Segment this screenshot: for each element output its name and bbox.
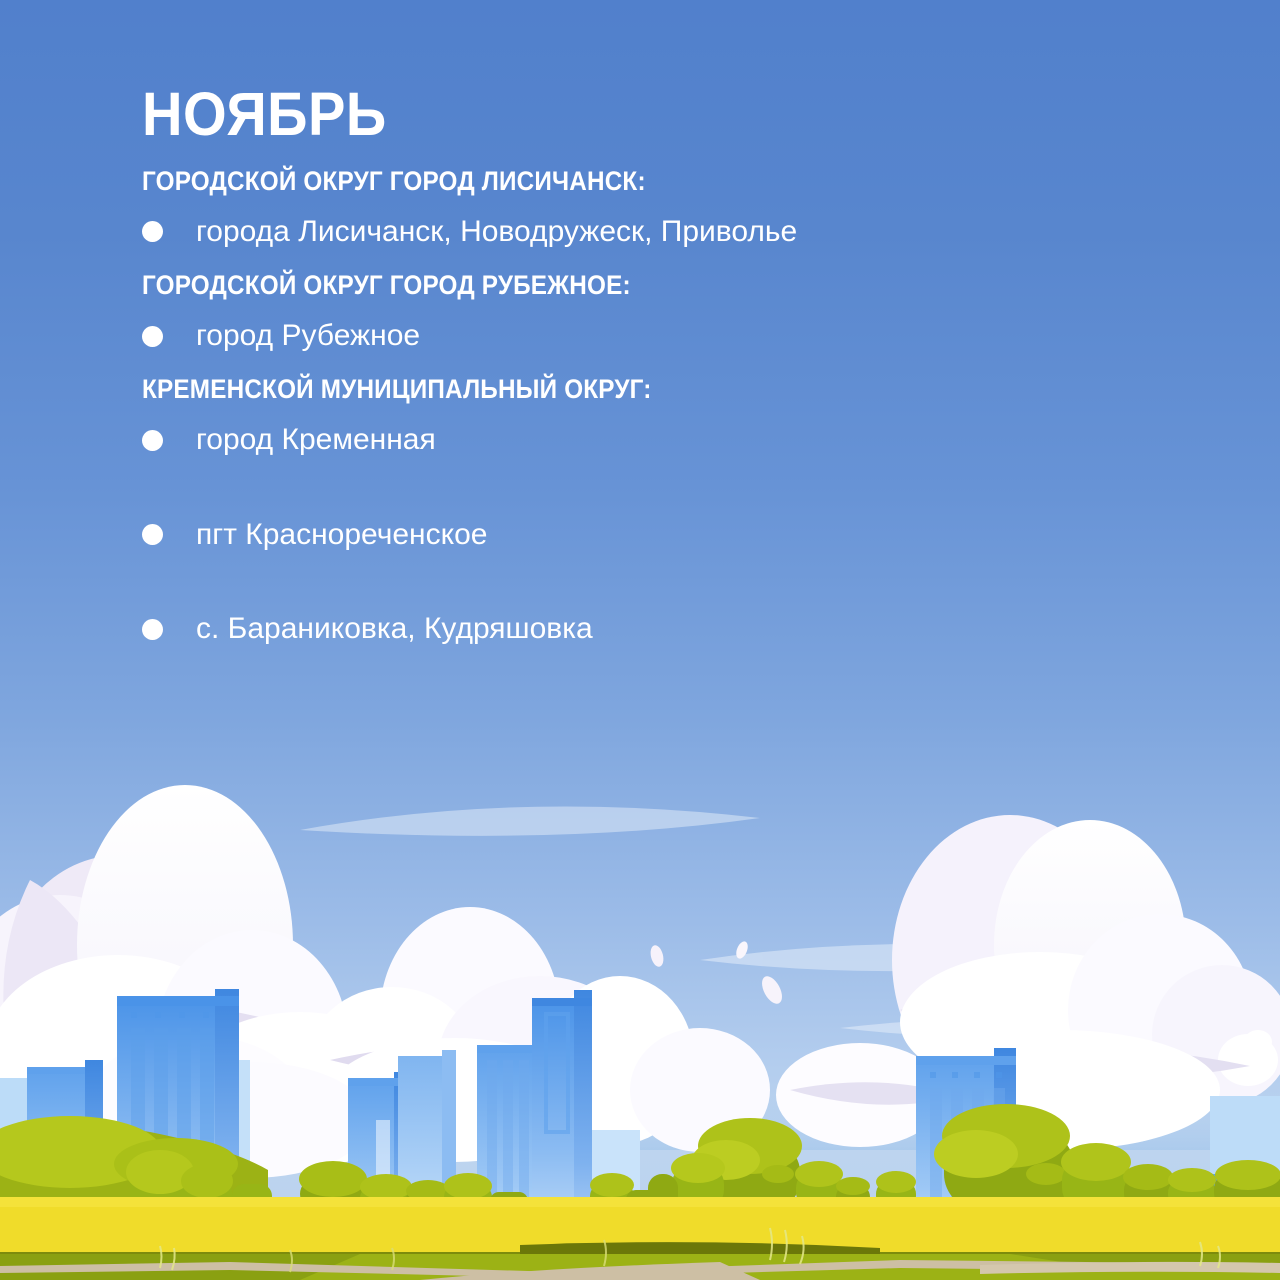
list-item: города Лисичанск, Новодружеск, Приволье: [142, 215, 1102, 250]
list-item: город Кременная: [142, 423, 1102, 458]
poster-text-block: НОЯБРЬ ГОРОДСКОЙ ОКРУГ ГОРОД ЛИСИЧАНСК: …: [142, 84, 1102, 669]
floating-petals: [649, 940, 787, 1007]
district-group-rubezhnoe: ГОРОДСКОЙ ОКРУГ ГОРОД РУБЕЖНОЕ: город Ру…: [142, 271, 1102, 353]
ground-layers: [0, 1197, 1280, 1280]
district-heading-lisichansk: ГОРОДСКОЙ ОКРУГ ГОРОД ЛИСИЧАНСК:: [142, 167, 1006, 197]
district-heading-rubezhnoe: ГОРОДСКОЙ ОКРУГ ГОРОД РУБЕЖНОЕ:: [142, 271, 1006, 301]
cityscape-illustration: [0, 760, 1280, 1280]
list-item-label: пгт Краснореченское: [196, 518, 487, 553]
district-group-lisichansk: ГОРОДСКОЙ ОКРУГ ГОРОД ЛИСИЧАНСК: города …: [142, 167, 1102, 249]
list-item: город Рубежное: [142, 319, 1102, 354]
bullet-dot-icon: [142, 524, 163, 545]
bullet-dot-icon: [142, 221, 163, 242]
poster-canvas: НОЯБРЬ ГОРОДСКОЙ ОКРУГ ГОРОД ЛИСИЧАНСК: …: [0, 0, 1280, 1280]
list-item-label: с. Бараниковка, Кудряшовка: [196, 612, 593, 647]
list-item-label: города Лисичанск, Новодружеск, Приволье: [196, 215, 797, 250]
district-group-kremenskoy: КРЕМЕНСКОЙ МУНИЦИПАЛЬНЫЙ ОКРУГ: город Кр…: [142, 375, 1102, 646]
list-item-label: город Кременная: [196, 423, 436, 458]
bullet-dot-icon: [142, 430, 163, 451]
list-item: пгт Краснореченское: [142, 518, 1102, 553]
district-heading-kremenskoy: КРЕМЕНСКОЙ МУНИЦИПАЛЬНЫЙ ОКРУГ:: [142, 375, 1006, 405]
page-title: НОЯБРЬ: [142, 84, 1025, 145]
list-item: с. Бараниковка, Кудряшовка: [142, 612, 1102, 647]
bullet-dot-icon: [142, 326, 163, 347]
list-item-label: город Рубежное: [196, 319, 420, 354]
bullet-dot-icon: [142, 619, 163, 640]
